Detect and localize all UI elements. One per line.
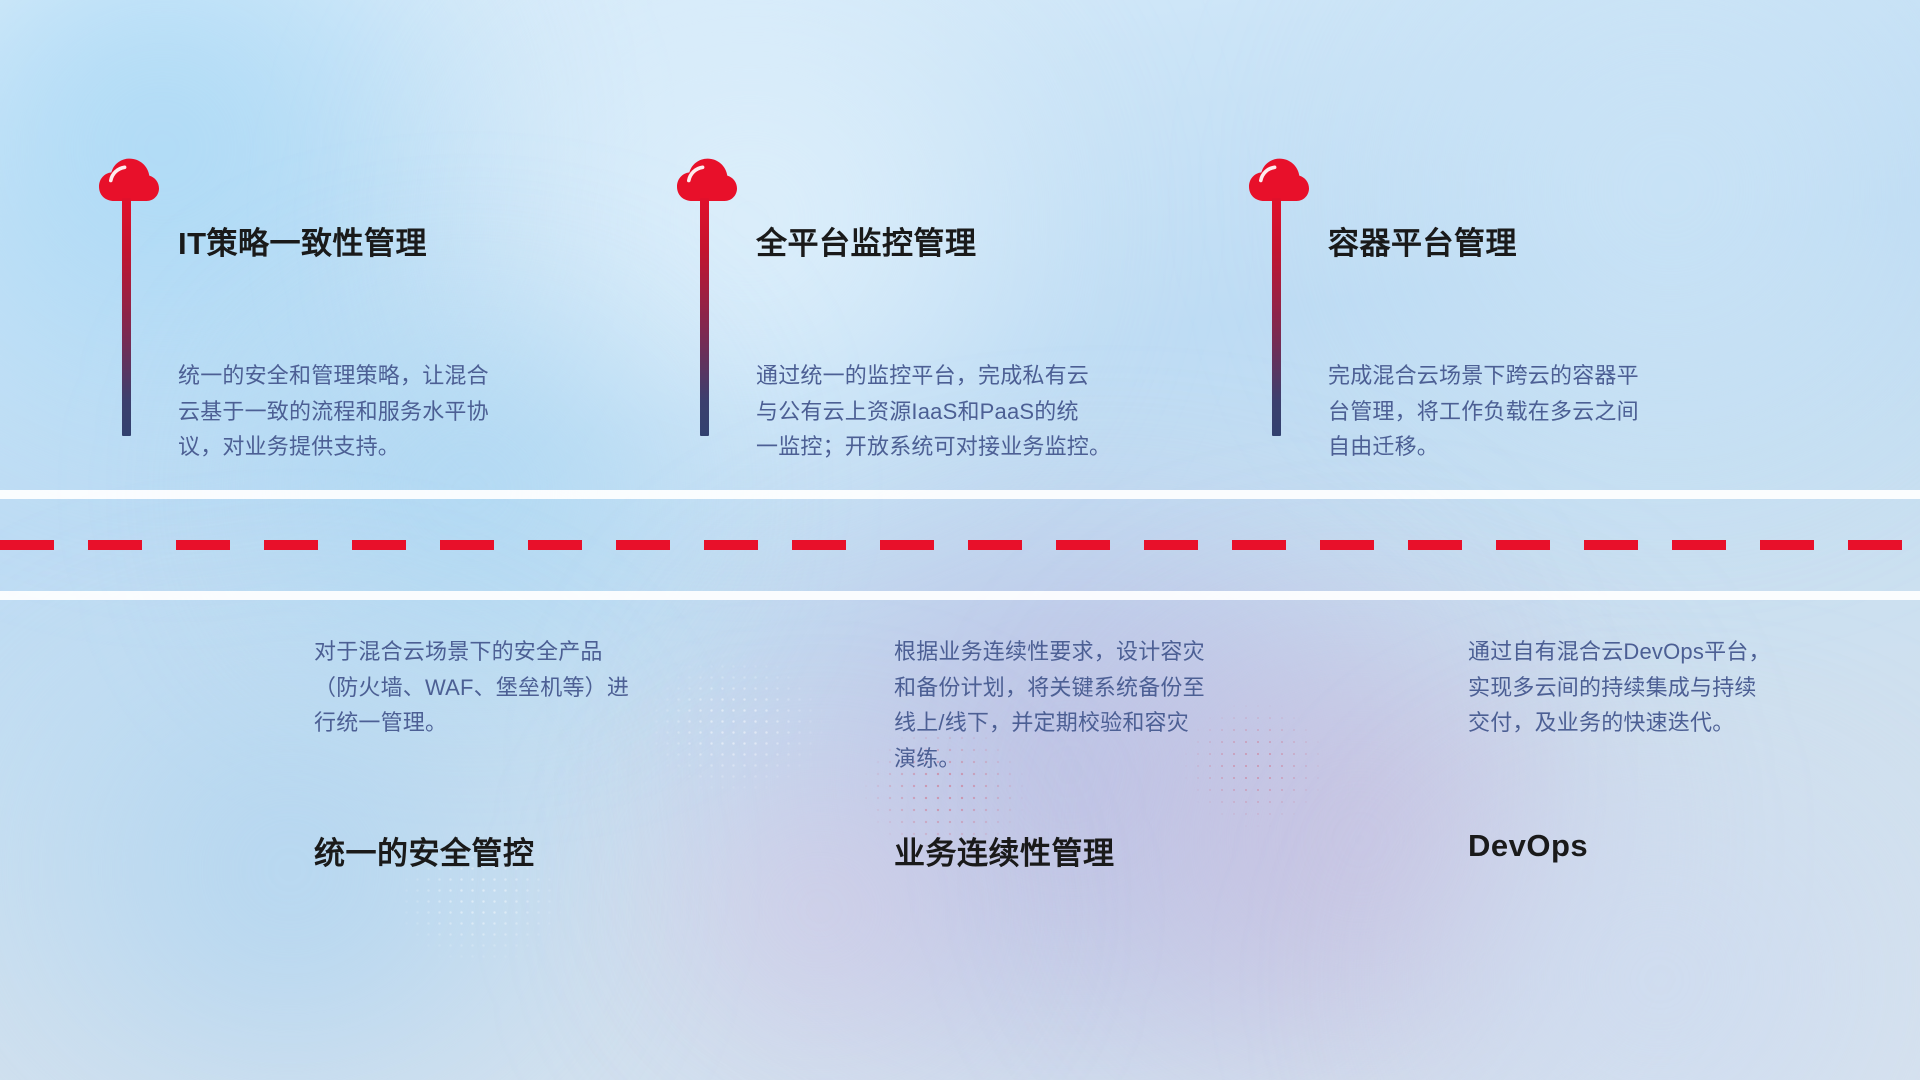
- divider-line-top: [0, 490, 1920, 499]
- card-body: 通过统一的监控平台，完成私有云 与公有云上资源IaaS和PaaS的统 一监控；开…: [756, 358, 1196, 465]
- card-body: 通过自有混合云DevOps平台， 实现多云间的持续集成与持续 交付，及业务的快速…: [1468, 634, 1888, 741]
- body-line: 通过自有混合云DevOps平台，: [1468, 634, 1888, 670]
- cloud-pin-top-2: [676, 158, 746, 202]
- body-line: 统一的安全和管理策略，让混合: [178, 358, 598, 394]
- divider-line-bottom: [0, 591, 1920, 600]
- body-line: 根据业务连续性要求，设计容灾: [894, 634, 1314, 670]
- cloud-pin-top-1: [98, 158, 168, 202]
- body-line: 台管理，将工作负载在多云之间: [1328, 394, 1748, 430]
- infographic-canvas: IT策略一致性管理 统一的安全和管理策略，让混合 云基于一致的流程和服务水平协 …: [0, 0, 1920, 1080]
- pin-stem: [122, 198, 131, 436]
- card-body: 统一的安全和管理策略，让混合 云基于一致的流程和服务水平协 议，对业务提供支持。: [178, 358, 598, 465]
- section-divider: [0, 490, 1920, 600]
- cloud-pin-top-3: [1248, 158, 1318, 202]
- divider-dashed-line: [0, 540, 1920, 550]
- card-body: 完成混合云场景下跨云的容器平 台管理，将工作负载在多云之间 自由迁移。: [1328, 358, 1748, 465]
- pin-stem: [1272, 198, 1281, 436]
- card-title: 全平台监控管理: [756, 218, 977, 263]
- body-line: 与公有云上资源IaaS和PaaS的统: [756, 394, 1196, 430]
- body-line: 演练。: [894, 741, 1314, 777]
- body-line: 自由迁移。: [1328, 429, 1748, 465]
- body-line: 行统一管理。: [314, 705, 734, 741]
- pin-stem: [700, 198, 709, 436]
- card-title: IT策略一致性管理: [178, 218, 427, 263]
- cloud-icon: [98, 158, 160, 202]
- body-line: 线上/线下，并定期校验和容灾: [894, 705, 1314, 741]
- body-line: 交付，及业务的快速迭代。: [1468, 705, 1888, 741]
- body-line: 议，对业务提供支持。: [178, 429, 598, 465]
- cloud-icon: [676, 158, 738, 202]
- card-body: 根据业务连续性要求，设计容灾 和备份计划，将关键系统备份至 线上/线下，并定期校…: [894, 634, 1314, 777]
- card-title: 业务连续性管理: [894, 828, 1115, 873]
- body-line: 和备份计划，将关键系统备份至: [894, 670, 1314, 706]
- body-line: 通过统一的监控平台，完成私有云: [756, 358, 1196, 394]
- body-line: 对于混合云场景下的安全产品: [314, 634, 734, 670]
- card-body: 对于混合云场景下的安全产品 （防火墙、WAF、堡垒机等）进 行统一管理。: [314, 634, 734, 741]
- body-line: 一监控；开放系统可对接业务监控。: [756, 429, 1196, 465]
- card-title: DevOps: [1468, 828, 1588, 864]
- body-line: 实现多云间的持续集成与持续: [1468, 670, 1888, 706]
- body-line: 云基于一致的流程和服务水平协: [178, 394, 598, 430]
- card-title: 统一的安全管控: [314, 828, 535, 873]
- cloud-icon: [1248, 158, 1310, 202]
- card-title: 容器平台管理: [1328, 218, 1517, 263]
- body-line: （防火墙、WAF、堡垒机等）进: [314, 670, 734, 706]
- body-line: 完成混合云场景下跨云的容器平: [1328, 358, 1748, 394]
